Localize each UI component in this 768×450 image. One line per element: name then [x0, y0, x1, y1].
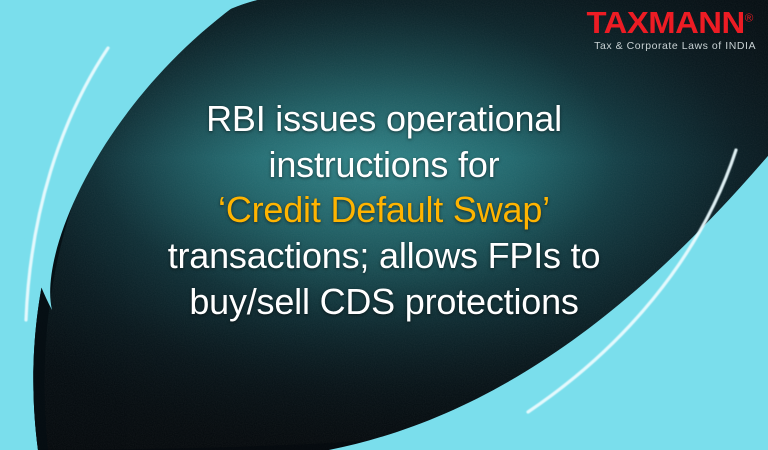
headline-line-5: buy/sell CDS protections [84, 279, 684, 325]
headline-line-2: instructions for [84, 142, 684, 188]
registered-trademark-icon: ® [745, 13, 754, 25]
headline: RBI issues operational instructions for … [84, 96, 684, 325]
logo-tagline: Tax & Corporate Laws of INDIA [594, 41, 756, 52]
news-banner: TAXMANN® Tax & Corporate Laws of INDIA R… [0, 0, 768, 450]
headline-line-1: RBI issues operational [84, 96, 684, 142]
taxmann-logo: TAXMANN® Tax & Corporate Laws of INDIA [594, 7, 756, 52]
logo-wordmark: TAXMANN® [587, 7, 754, 38]
headline-line-3-accent: ‘Credit Default Swap’ [84, 187, 684, 233]
logo-wordmark-text: TAXMANN [587, 5, 745, 40]
headline-line-4: transactions; allows FPIs to [84, 233, 684, 279]
